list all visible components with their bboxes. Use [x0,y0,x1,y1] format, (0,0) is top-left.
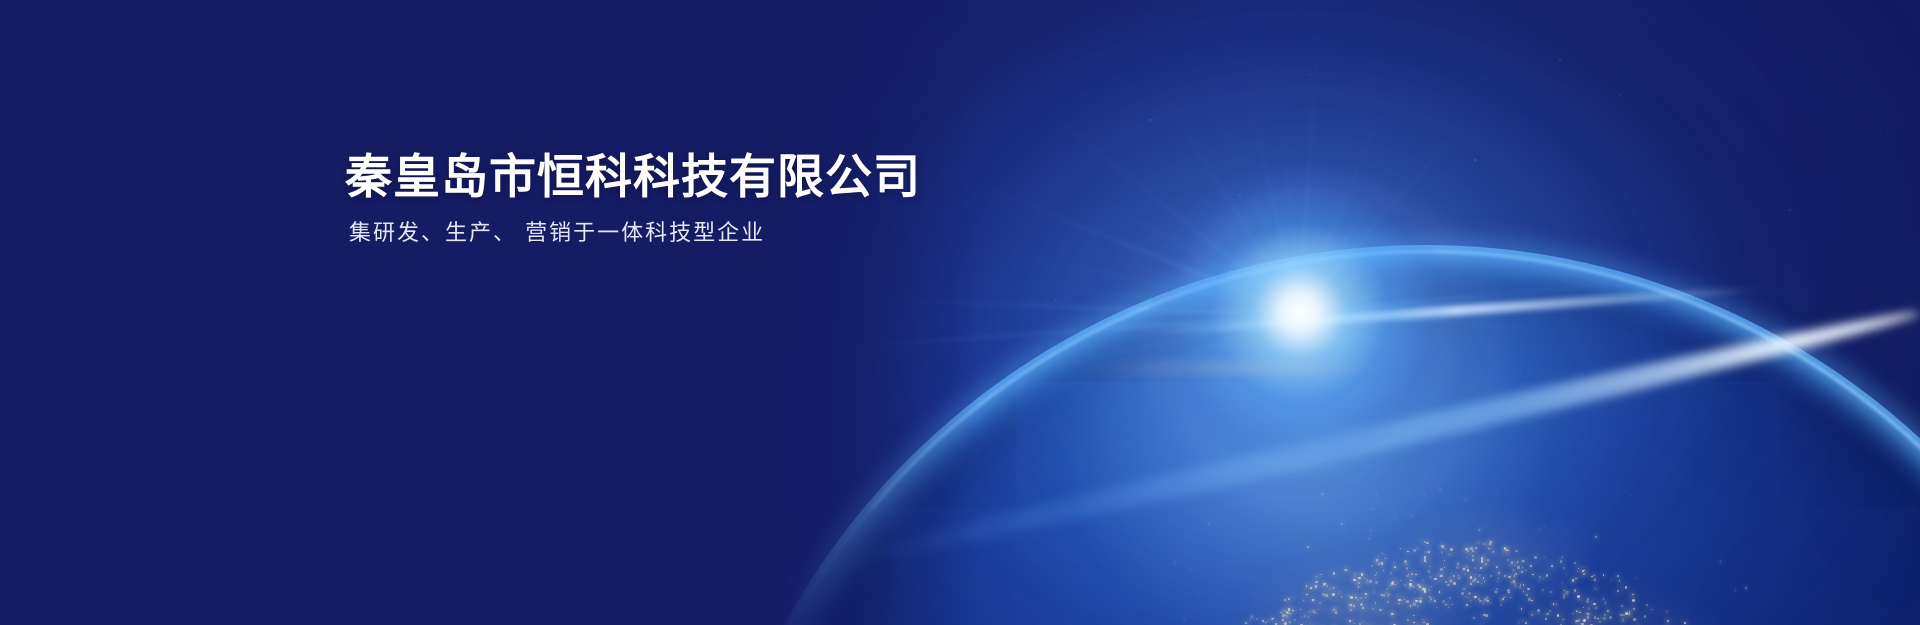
atmospheric-haze [1080,360,1380,376]
company-tagline: 集研发、生产、 营销于一体科技型企业 [349,218,921,248]
left-vignette [0,0,980,625]
banner-content: 秦皇岛市恒科科技有限公司 集研发、生产、 营销于一体科技型企业 [345,148,921,248]
hero-banner: 秦皇岛市恒科科技有限公司 集研发、生产、 营销于一体科技型企业 [0,0,1920,625]
flare-core [1150,162,1450,462]
company-name-heading: 秦皇岛市恒科科技有限公司 [345,148,921,206]
